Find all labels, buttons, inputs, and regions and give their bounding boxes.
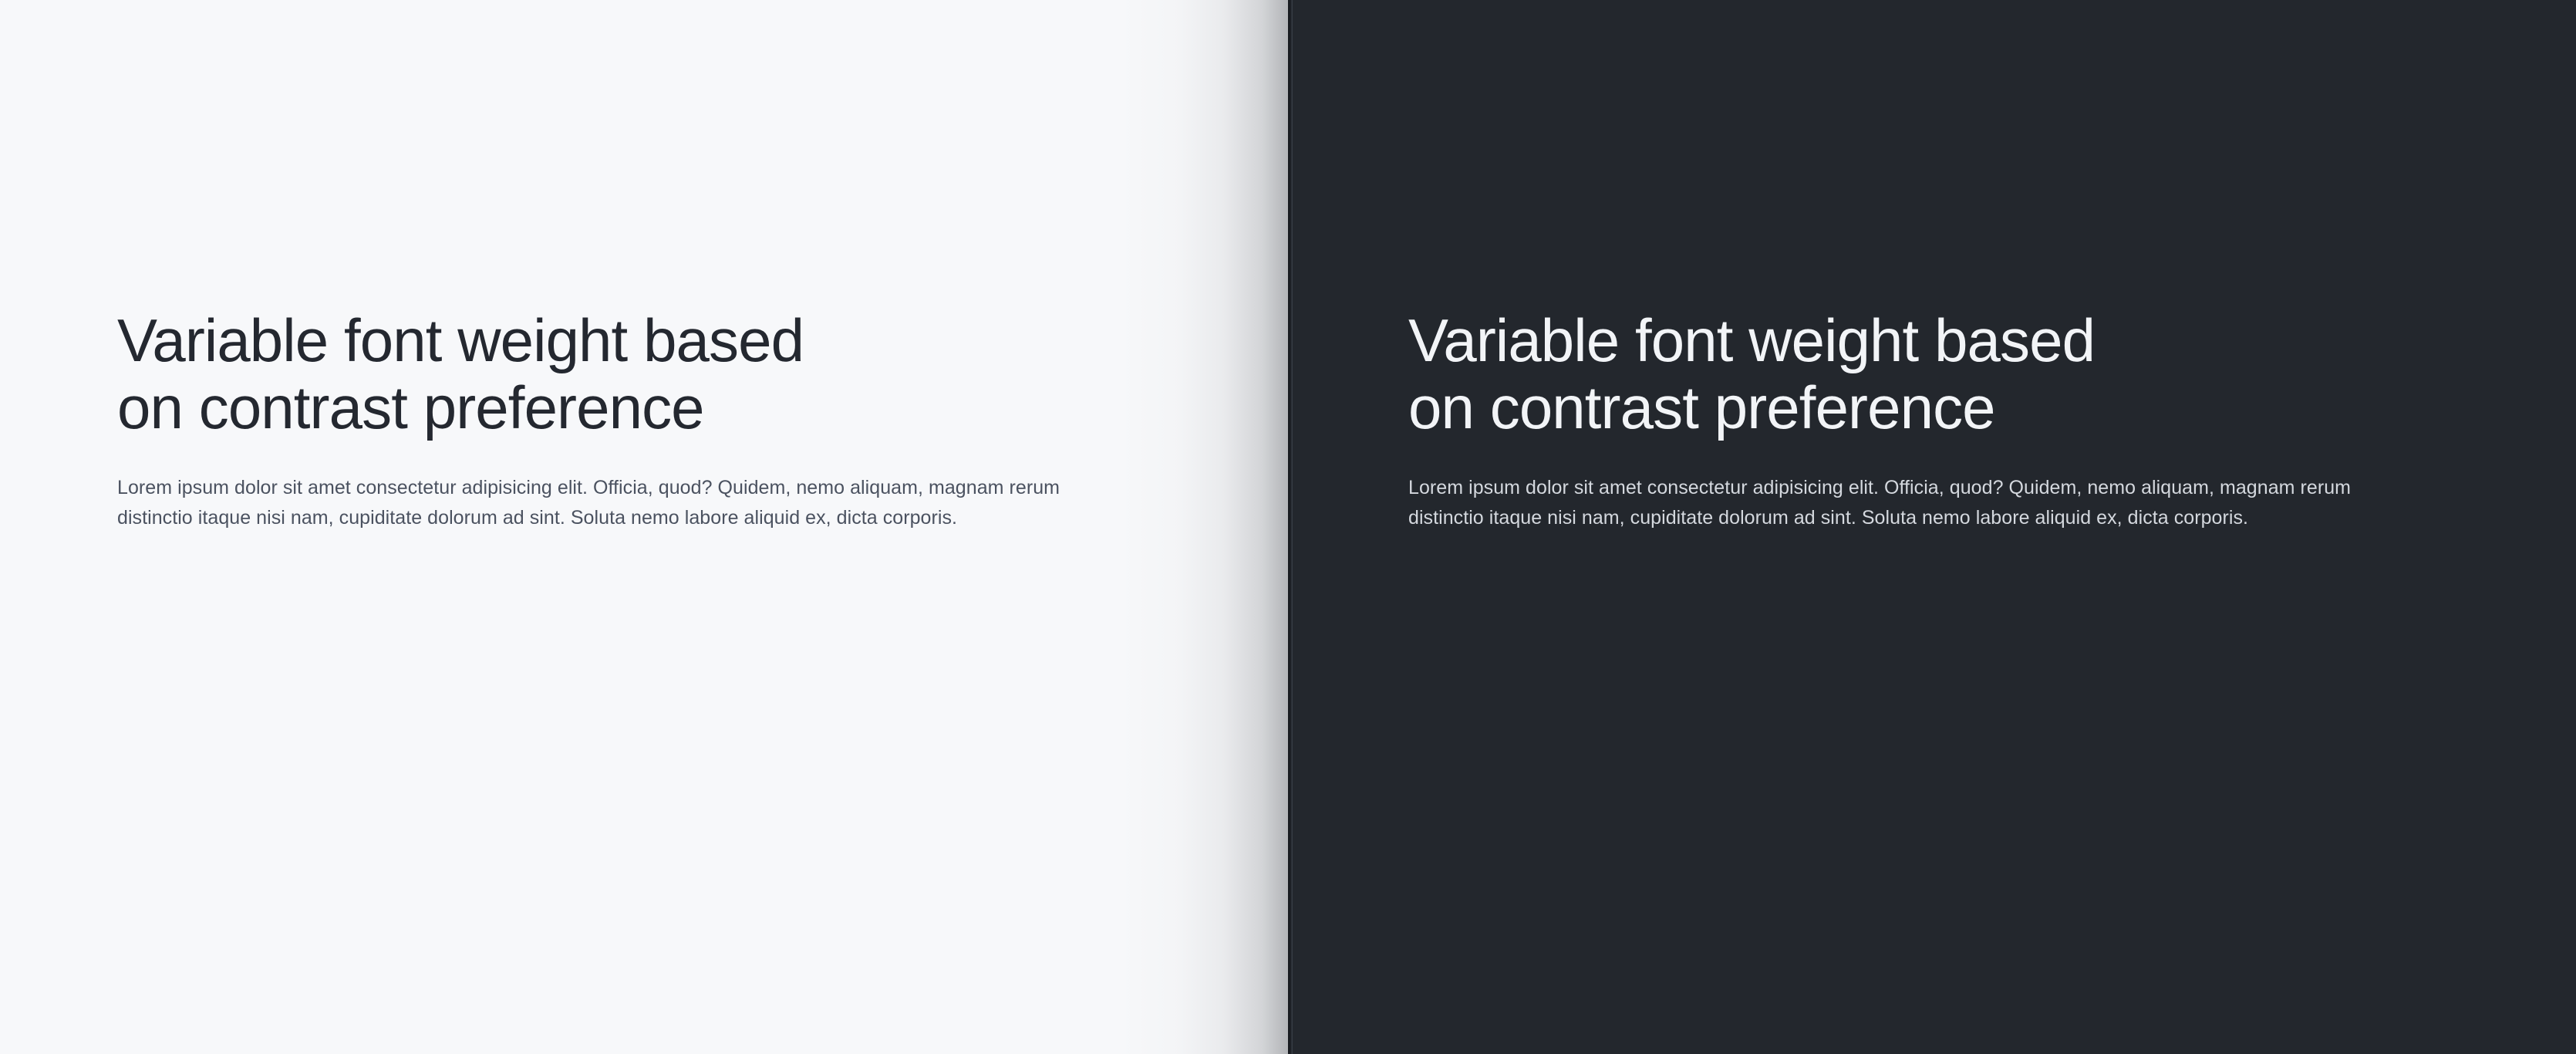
- body-paragraph: Lorem ipsum dolor sit amet consectetur a…: [1408, 442, 2426, 533]
- dark-pane-content: Variable font weight based on contrast p…: [1408, 307, 2426, 533]
- page-title: Variable font weight based on contrast p…: [117, 307, 1135, 442]
- dark-theme-pane: Variable font weight based on contrast p…: [1288, 0, 2576, 1054]
- page-title: Variable font weight based on contrast p…: [1408, 307, 2426, 442]
- contrast-preference-split-view: Variable font weight based on contrast p…: [0, 0, 2576, 1054]
- body-paragraph: Lorem ipsum dolor sit amet consectetur a…: [117, 442, 1135, 533]
- pane-divider: [1288, 0, 1293, 1054]
- light-theme-pane: Variable font weight based on contrast p…: [0, 0, 1288, 1054]
- light-pane-content: Variable font weight based on contrast p…: [117, 307, 1135, 533]
